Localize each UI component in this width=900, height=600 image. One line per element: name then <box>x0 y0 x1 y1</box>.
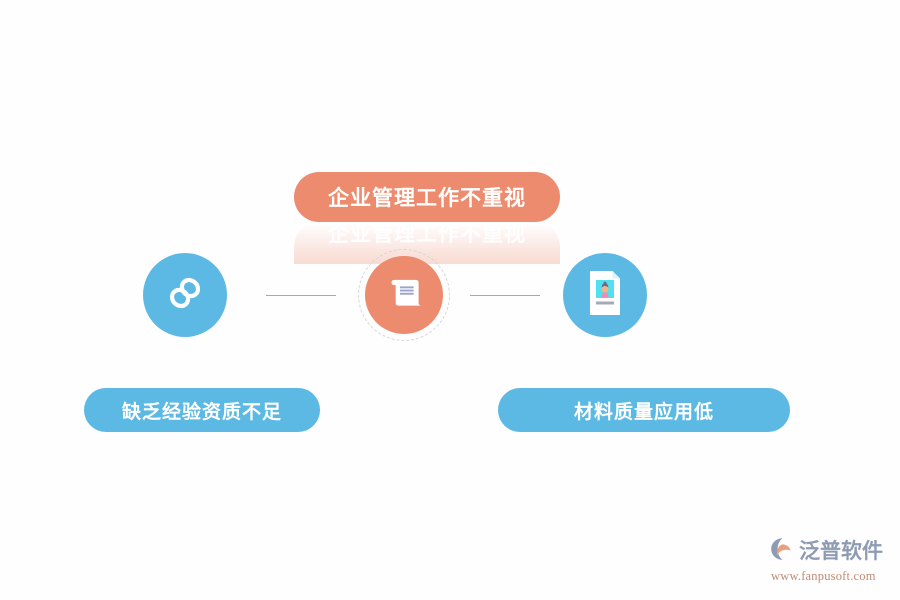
node-right-pill-label: 材料质量应用低 <box>574 397 714 424</box>
top-node-pill[interactable]: 企业管理工作不重视 <box>294 172 560 222</box>
node-left-circle[interactable] <box>143 253 227 337</box>
top-node-label: 企业管理工作不重视 <box>328 182 526 212</box>
chain-link-icon <box>162 270 208 321</box>
connector-left-to-center <box>266 295 336 296</box>
watermark-url: www.fanpusoft.com <box>771 569 876 584</box>
node-right-pill[interactable]: 材料质量应用低 <box>498 388 790 432</box>
watermark-brand: 泛普软件 <box>799 541 883 562</box>
watermark-brand-row: 泛普软件 <box>770 537 883 566</box>
node-left-pill-label: 缺乏经验资质不足 <box>122 397 282 424</box>
diagram-canvas: 企业管理工作不重视 企业管理工作不重视 <box>0 0 900 600</box>
node-left-pill[interactable]: 缺乏经验资质不足 <box>84 388 320 432</box>
fanpu-logo-icon <box>770 537 796 566</box>
scroll-document-icon <box>384 273 424 318</box>
node-center-circle[interactable] <box>365 256 443 334</box>
node-center-ring <box>358 249 450 341</box>
top-node[interactable]: 企业管理工作不重视 <box>294 172 560 222</box>
connector-center-to-right <box>470 295 540 296</box>
watermark: 泛普软件 www.fanpusoft.com <box>770 537 890 585</box>
node-right-circle[interactable] <box>563 253 647 337</box>
id-card-icon <box>583 268 627 323</box>
